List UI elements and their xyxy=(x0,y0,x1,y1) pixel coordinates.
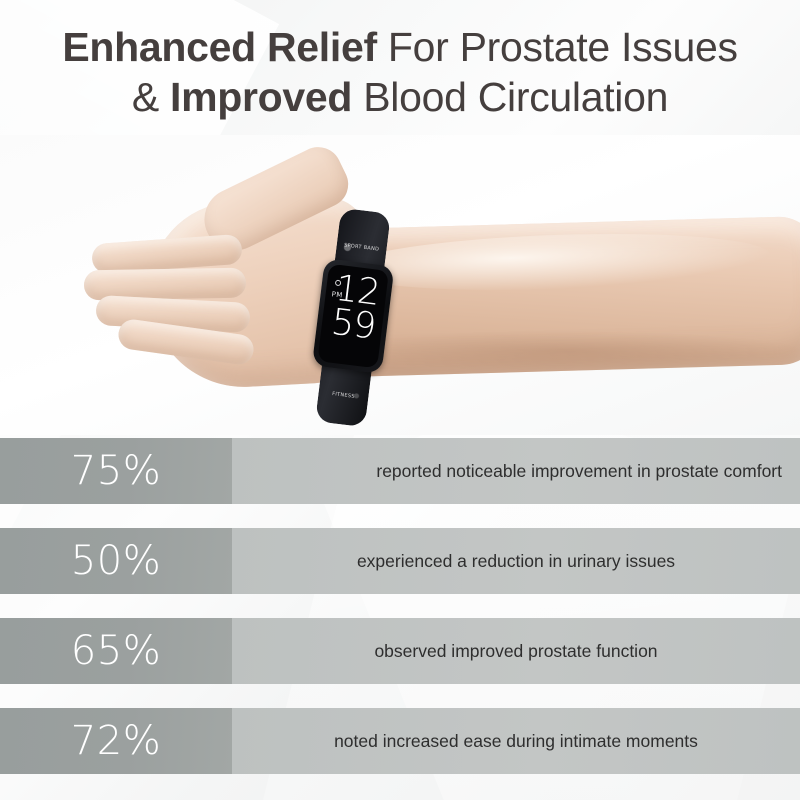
stat-percent: 65% xyxy=(71,628,161,674)
headline-line-1: Enhanced Relief For Prostate Issues xyxy=(0,22,800,72)
page-title: Enhanced Relief For Prostate Issues & Im… xyxy=(0,22,800,122)
headline-line-2: & Improved Blood Circulation xyxy=(0,72,800,122)
headline-emphasis: Enhanced Relief xyxy=(62,24,376,70)
headline-line-2-rest: Blood Circulation xyxy=(352,74,668,120)
watch-minutes: 59 xyxy=(329,305,377,344)
stat-row: 50% experienced a reduction in urinary i… xyxy=(0,528,800,594)
headline-ampersand: & xyxy=(132,74,170,120)
product-photo: SPORT BAND FITNESS PM 12 59 xyxy=(0,135,800,435)
stat-description: noted increased ease during intimate mom… xyxy=(250,731,782,752)
headline-line-1-rest: For Prostate Issues xyxy=(377,24,738,70)
stat-percent-block: 65% xyxy=(0,618,232,684)
stat-text-block: reported noticeable improvement in prost… xyxy=(232,438,800,504)
stat-percent: 75% xyxy=(71,448,161,494)
forearm-shadow xyxy=(330,331,800,371)
stat-percent-block: 75% xyxy=(0,438,232,504)
stat-row: 75% reported noticeable improvement in p… xyxy=(0,438,800,504)
stat-row: 65% observed improved prostate function xyxy=(0,618,800,684)
stat-percent: 72% xyxy=(71,718,161,764)
statistics-list: 75% reported noticeable improvement in p… xyxy=(0,438,800,774)
strap-branding-text: SPORT BAND xyxy=(344,242,380,252)
watch-screen: PM 12 59 xyxy=(317,264,388,369)
stat-text-block: experienced a reduction in urinary issue… xyxy=(232,528,800,594)
stat-description: reported noticeable improvement in prost… xyxy=(250,461,782,482)
stat-percent: 50% xyxy=(71,538,161,584)
stat-text-block: observed improved prostate function xyxy=(232,618,800,684)
headline-emphasis: Improved xyxy=(170,74,352,120)
stat-description: observed improved prostate function xyxy=(250,641,782,662)
promo-graphic: Enhanced Relief For Prostate Issues & Im… xyxy=(0,0,800,800)
strap-branding-text: FITNESS xyxy=(332,391,355,400)
stat-row: 72% noted increased ease during intimate… xyxy=(0,708,800,774)
stat-description: experienced a reduction in urinary issue… xyxy=(250,551,782,572)
stat-percent-block: 72% xyxy=(0,708,232,774)
stat-percent-block: 50% xyxy=(0,528,232,594)
stat-text-block: noted increased ease during intimate mom… xyxy=(232,708,800,774)
watch-time: 12 59 xyxy=(329,272,381,344)
watch-case: PM 12 59 xyxy=(312,258,395,374)
